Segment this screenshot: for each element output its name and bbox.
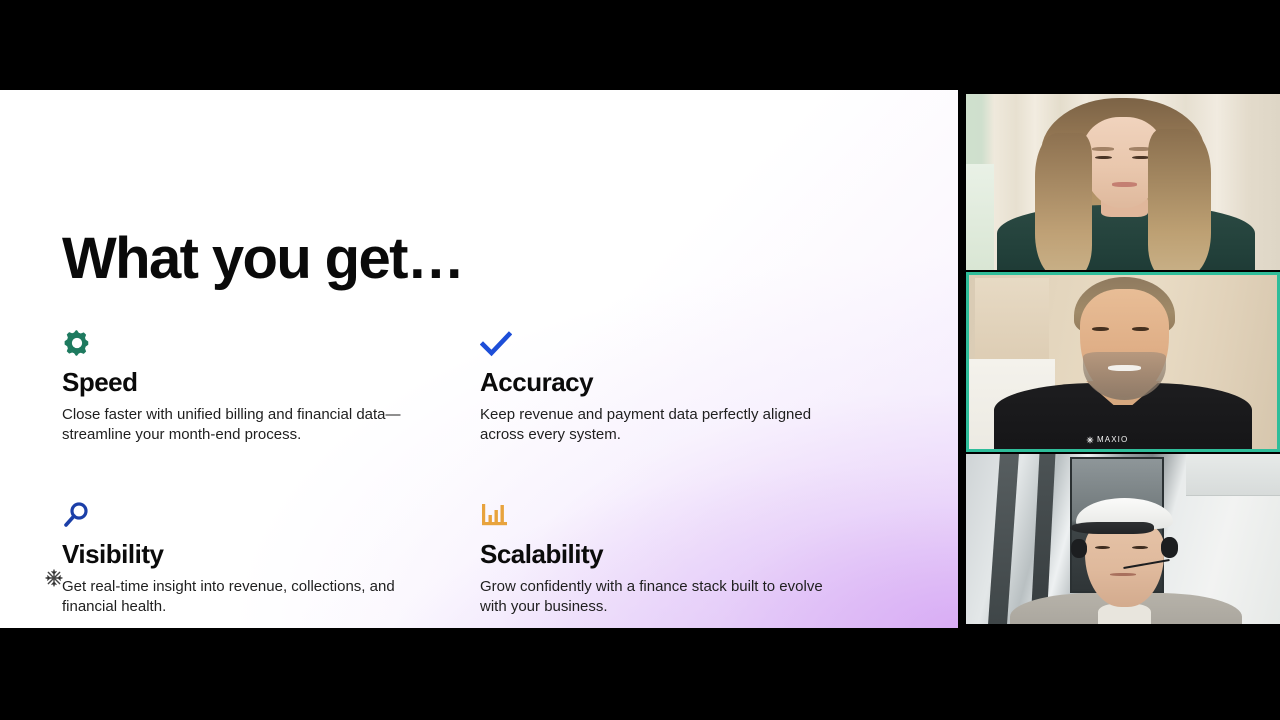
headset-earcup-left — [1071, 539, 1087, 558]
participant-tile-1[interactable] — [966, 94, 1280, 270]
search-icon — [62, 496, 480, 530]
shirt-logo-text: MAXIO — [1097, 435, 1128, 444]
feature-speed: Speed Close faster with unified billing … — [62, 324, 480, 444]
feature-body: Close faster with unified billing and fi… — [62, 405, 412, 445]
participant-tile-3[interactable] — [966, 454, 1280, 624]
feature-title: Visibility — [62, 540, 480, 569]
feature-grid: Speed Close faster with unified billing … — [62, 324, 872, 617]
shared-slide[interactable]: What you get… Speed Close faster with un… — [0, 90, 958, 628]
window-light — [966, 164, 994, 270]
hair-strand-left — [1035, 133, 1092, 270]
mouth — [1108, 365, 1142, 371]
feature-body: Get real-time insight into revenue, coll… — [62, 577, 412, 617]
hair-strand-right — [1148, 129, 1211, 270]
headset-earcup-right — [1161, 537, 1178, 557]
participant-video-2: MAXIO — [969, 275, 1277, 449]
feature-scalability: Scalability Grow confidently with a fina… — [480, 496, 872, 616]
cap-brim — [1070, 522, 1155, 534]
feature-body: Keep revenue and payment data perfectly … — [480, 405, 830, 445]
participant-video-3 — [966, 454, 1280, 624]
gear-icon — [62, 324, 480, 358]
check-icon — [480, 324, 872, 358]
ceiling — [1186, 454, 1280, 496]
bar-chart-icon — [480, 496, 872, 530]
participant-video-1 — [966, 94, 1280, 270]
shirt-logo: MAXIO — [1086, 435, 1128, 444]
feature-title: Scalability — [480, 540, 872, 569]
maxio-asterisk-logo-icon — [1086, 436, 1094, 444]
feature-accuracy: Accuracy Keep revenue and payment data p… — [480, 324, 872, 444]
page-title: What you get… — [62, 230, 463, 288]
feature-title: Accuracy — [480, 368, 872, 397]
mouth — [1110, 573, 1135, 576]
meeting-screen: What you get… Speed Close faster with un… — [0, 0, 1280, 720]
window-blind — [975, 278, 1049, 362]
participant-strip: MAXIO — [966, 90, 1280, 628]
feature-visibility: Visibility Get real-time insight into re… — [62, 496, 480, 616]
maxio-asterisk-logo-icon — [44, 568, 64, 588]
eyebrow-left — [1092, 147, 1114, 151]
participant-tile-2-active-speaker[interactable]: MAXIO — [966, 272, 1280, 452]
feature-title: Speed — [62, 368, 480, 397]
feature-body: Grow confidently with a finance stack bu… — [480, 577, 830, 617]
mouth — [1112, 182, 1137, 187]
